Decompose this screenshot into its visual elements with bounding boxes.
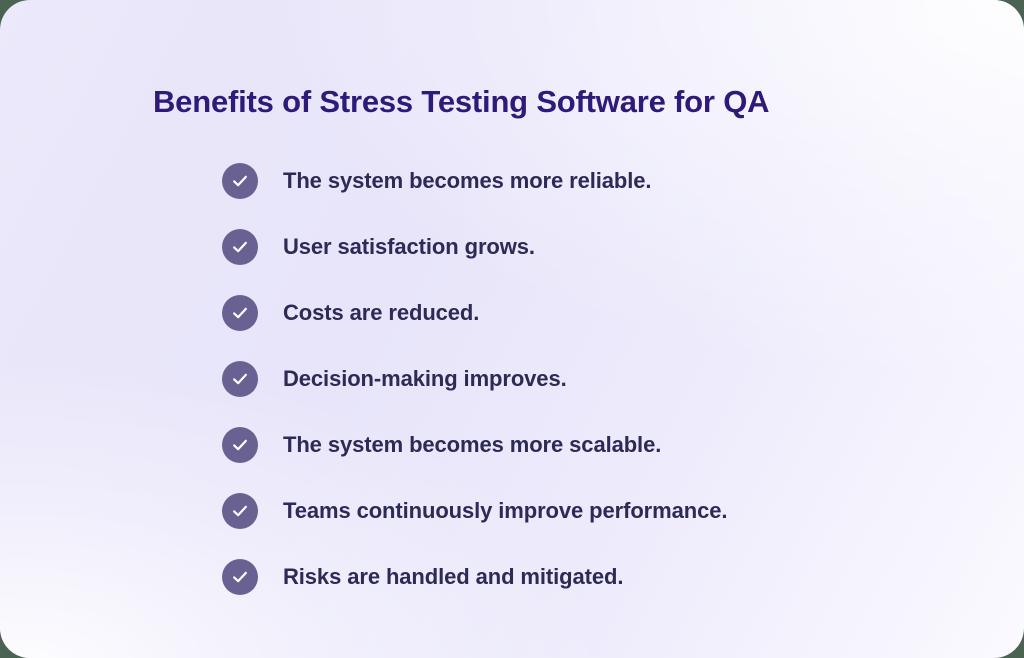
list-item-label: Risks are handled and mitigated.: [283, 564, 623, 590]
list-item: User satisfaction grows.: [222, 229, 727, 265]
list-item: Costs are reduced.: [222, 295, 727, 331]
check-icon: [222, 493, 258, 529]
card-content: Benefits of Stress Testing Software for …: [0, 0, 1024, 658]
benefits-card: Benefits of Stress Testing Software for …: [0, 0, 1024, 658]
check-icon: [222, 229, 258, 265]
list-item-label: Decision-making improves.: [283, 366, 567, 392]
check-icon: [222, 427, 258, 463]
check-icon: [222, 163, 258, 199]
list-item-label: Costs are reduced.: [283, 300, 479, 326]
list-item: The system becomes more scalable.: [222, 427, 727, 463]
list-item: Risks are handled and mitigated.: [222, 559, 727, 595]
check-icon: [222, 295, 258, 331]
list-item-label: Teams continuously improve performance.: [283, 498, 727, 524]
list-item-label: The system becomes more scalable.: [283, 432, 661, 458]
check-icon: [222, 559, 258, 595]
check-icon: [222, 361, 258, 397]
list-item: Teams continuously improve performance.: [222, 493, 727, 529]
list-item: Decision-making improves.: [222, 361, 727, 397]
list-item-label: The system becomes more reliable.: [283, 168, 651, 194]
screenshot-stage: Benefits of Stress Testing Software for …: [0, 0, 1024, 658]
list-item: The system becomes more reliable.: [222, 163, 727, 199]
page-title: Benefits of Stress Testing Software for …: [153, 84, 769, 120]
list-item-label: User satisfaction grows.: [283, 234, 535, 260]
benefits-list: The system becomes more reliable. User s…: [222, 163, 727, 595]
